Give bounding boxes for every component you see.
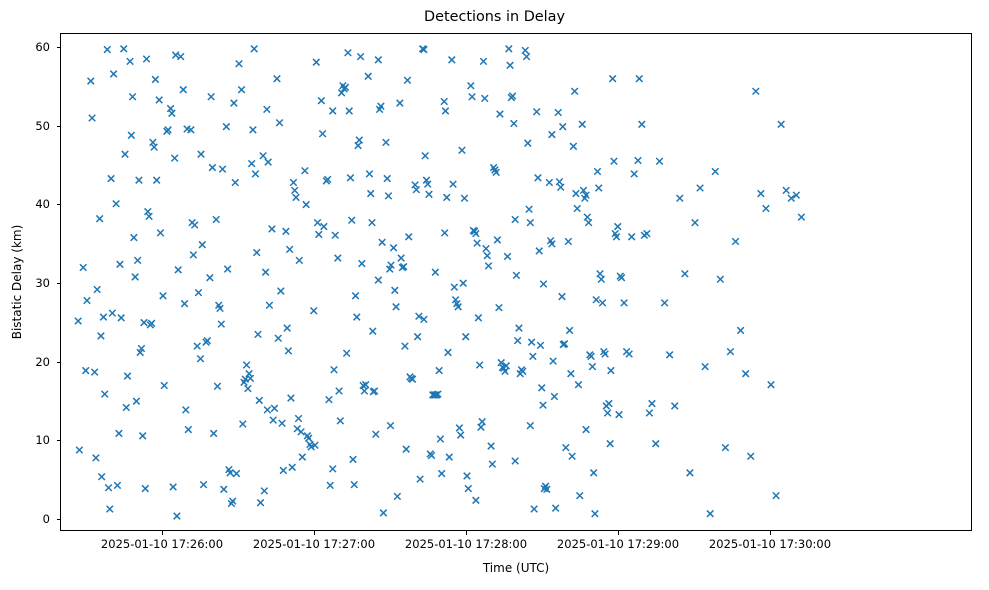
scatter-marker xyxy=(516,325,523,332)
scatter-marker xyxy=(404,77,411,84)
scatter-marker xyxy=(445,349,452,356)
scatter-marker xyxy=(414,333,421,340)
scatter-marker xyxy=(460,280,467,287)
chart-title: Detections in Delay xyxy=(0,9,989,25)
scatter-marker xyxy=(354,314,361,321)
scatter-marker xyxy=(441,98,448,105)
scatter-series xyxy=(61,34,971,530)
scatter-marker xyxy=(221,486,228,493)
scatter-marker xyxy=(513,272,520,279)
scatter-marker xyxy=(118,315,125,322)
scatter-marker xyxy=(139,433,146,440)
scatter-marker xyxy=(616,411,623,418)
scatter-marker xyxy=(666,352,673,359)
scatter-marker xyxy=(98,333,105,340)
scatter-marker xyxy=(302,167,309,174)
scatter-marker xyxy=(207,274,214,281)
scatter-marker xyxy=(250,127,257,133)
scatter-marker xyxy=(390,245,397,252)
scatter-marker xyxy=(177,53,184,60)
scatter-marker xyxy=(442,108,449,115)
scatter-marker xyxy=(218,321,225,328)
y-tick-label: 60 xyxy=(0,40,50,54)
scatter-marker xyxy=(566,327,573,334)
scatter-marker xyxy=(169,110,176,117)
scatter-marker xyxy=(337,418,344,425)
scatter-marker xyxy=(512,216,518,223)
scatter-marker xyxy=(335,255,342,261)
scatter-marker xyxy=(712,168,719,175)
scatter-marker xyxy=(450,181,457,188)
scatter-marker xyxy=(332,232,339,239)
scatter-marker xyxy=(768,381,775,388)
scatter-marker xyxy=(285,348,292,355)
scatter-marker xyxy=(559,293,566,300)
scatter-marker xyxy=(446,454,453,461)
scatter-marker xyxy=(590,470,597,477)
y-tick-mark xyxy=(57,47,61,48)
scatter-marker xyxy=(380,510,387,517)
scatter-marker xyxy=(682,271,689,278)
scatter-marker xyxy=(264,106,271,113)
scatter-marker xyxy=(213,216,220,223)
y-tick-mark xyxy=(57,440,61,441)
scatter-marker xyxy=(594,168,601,175)
scatter-marker xyxy=(530,353,537,360)
scatter-marker xyxy=(550,358,557,365)
scatter-marker xyxy=(351,481,358,488)
scatter-marker xyxy=(172,52,179,59)
scatter-marker xyxy=(105,484,112,491)
scatter-marker xyxy=(441,230,448,237)
scatter-marker xyxy=(246,370,253,377)
scatter-marker xyxy=(129,94,136,101)
scatter-marker xyxy=(405,234,412,241)
scatter-marker xyxy=(266,302,273,309)
scatter-marker xyxy=(393,304,400,311)
x-axis-label: Time (UTC) xyxy=(60,561,972,575)
scatter-marker xyxy=(82,367,89,374)
scatter-marker xyxy=(443,194,450,201)
scatter-marker xyxy=(551,393,558,400)
scatter-marker xyxy=(763,205,770,212)
scatter-marker xyxy=(496,304,503,311)
scatter-marker xyxy=(114,482,121,489)
scatter-marker xyxy=(133,398,140,405)
scatter-marker xyxy=(94,286,101,293)
scatter-marker xyxy=(123,404,130,411)
scatter-marker xyxy=(365,73,372,80)
y-tick-label: 10 xyxy=(0,433,50,447)
scatter-marker xyxy=(592,510,599,517)
scatter-marker xyxy=(639,121,646,128)
scatter-marker xyxy=(252,171,259,178)
scatter-marker xyxy=(265,159,272,166)
scatter-marker xyxy=(199,241,206,248)
scatter-marker xyxy=(722,444,729,451)
scatter-marker xyxy=(104,46,111,53)
scatter-marker xyxy=(243,362,250,369)
scatter-points-layer xyxy=(61,34,971,530)
scatter-marker xyxy=(153,177,160,184)
scatter-marker xyxy=(646,410,653,417)
scatter-marker xyxy=(783,187,790,194)
scatter-marker xyxy=(170,484,177,491)
scatter-marker xyxy=(574,205,581,212)
scatter-marker xyxy=(497,111,504,118)
x-tick-label: 2025-01-10 17:30:00 xyxy=(709,537,831,551)
scatter-marker xyxy=(367,190,374,197)
scatter-marker xyxy=(75,318,82,325)
scatter-marker xyxy=(540,281,547,288)
scatter-marker xyxy=(488,443,495,450)
scatter-marker xyxy=(556,178,563,185)
scatter-marker xyxy=(76,447,83,454)
scatter-marker xyxy=(402,343,409,350)
scatter-marker xyxy=(461,195,468,202)
scatter-marker xyxy=(631,171,638,178)
scatter-marker xyxy=(128,132,135,139)
scatter-marker xyxy=(299,454,306,461)
scatter-marker xyxy=(145,208,152,215)
scatter-marker xyxy=(88,78,95,85)
scatter-marker xyxy=(432,269,439,276)
marker-group xyxy=(75,46,805,520)
scatter-marker xyxy=(190,252,197,258)
scatter-marker xyxy=(93,455,100,462)
scatter-marker xyxy=(459,147,466,154)
scatter-marker xyxy=(262,269,269,276)
scatter-marker xyxy=(291,187,298,194)
scatter-marker xyxy=(348,217,355,224)
scatter-marker xyxy=(479,418,486,425)
scatter-marker xyxy=(528,339,535,346)
scatter-marker xyxy=(576,492,583,499)
scatter-marker xyxy=(256,397,263,404)
scatter-marker xyxy=(175,267,182,274)
x-tick-mark xyxy=(618,531,619,535)
scatter-marker xyxy=(296,257,303,264)
x-tick-mark xyxy=(466,531,467,535)
scatter-marker xyxy=(753,88,760,95)
scatter-marker xyxy=(295,415,302,422)
scatter-marker xyxy=(607,440,614,447)
y-tick-label: 30 xyxy=(0,276,50,290)
scatter-marker xyxy=(422,153,429,160)
scatter-marker xyxy=(392,287,399,294)
scatter-marker xyxy=(264,407,271,414)
scatter-marker xyxy=(565,238,572,245)
scatter-marker xyxy=(527,422,534,429)
scatter-marker xyxy=(303,201,310,208)
x-tick-label: 2025-01-10 17:28:00 xyxy=(405,537,527,551)
scatter-marker xyxy=(394,493,401,500)
scatter-marker xyxy=(732,238,739,245)
scatter-marker xyxy=(350,456,357,463)
scatter-marker xyxy=(511,120,518,127)
x-tick-label: 2025-01-10 17:26:00 xyxy=(101,537,223,551)
scatter-marker xyxy=(599,300,606,307)
scatter-marker xyxy=(598,276,605,283)
scatter-marker xyxy=(183,407,190,414)
scatter-marker xyxy=(127,58,134,65)
scatter-marker xyxy=(346,108,353,115)
scatter-marker xyxy=(171,155,178,162)
scatter-marker xyxy=(326,396,333,403)
scatter-marker xyxy=(316,231,323,238)
scatter-marker xyxy=(181,300,188,307)
scatter-marker xyxy=(717,276,724,283)
x-tick-mark xyxy=(770,531,771,535)
scatter-marker xyxy=(283,228,290,235)
scatter-marker xyxy=(525,140,532,147)
scatter-marker xyxy=(589,363,596,370)
scatter-marker xyxy=(798,214,805,221)
scatter-marker xyxy=(560,123,567,129)
scatter-marker xyxy=(143,56,150,63)
scatter-marker xyxy=(134,257,141,264)
scatter-marker xyxy=(604,410,611,417)
scatter-marker xyxy=(451,284,458,291)
scatter-marker xyxy=(778,121,785,128)
scatter-marker xyxy=(533,108,540,115)
scatter-marker xyxy=(413,186,420,193)
scatter-marker xyxy=(261,488,268,495)
y-tick-label: 20 xyxy=(0,355,50,369)
scatter-marker xyxy=(352,293,359,300)
y-tick-label: 0 xyxy=(0,512,50,526)
scatter-marker xyxy=(656,158,663,165)
scatter-marker xyxy=(412,182,419,189)
scatter-marker xyxy=(151,144,158,151)
scatter-marker xyxy=(113,201,120,208)
y-tick-label: 40 xyxy=(0,197,50,211)
scatter-marker xyxy=(473,497,480,504)
scatter-marker xyxy=(96,215,103,222)
scatter-marker xyxy=(568,370,574,377)
scatter-marker xyxy=(236,60,243,67)
scatter-marker xyxy=(107,506,114,513)
scatter-marker xyxy=(375,277,382,284)
scatter-marker xyxy=(456,425,463,432)
scatter-marker xyxy=(614,223,621,230)
scatter-marker xyxy=(100,314,107,321)
scatter-marker xyxy=(288,395,295,402)
plot-area xyxy=(60,33,972,531)
scatter-marker xyxy=(284,325,291,332)
scatter-marker xyxy=(593,296,600,303)
scatter-marker xyxy=(538,385,545,392)
scatter-marker xyxy=(146,213,153,220)
scatter-marker xyxy=(537,342,544,349)
scatter-marker xyxy=(305,435,312,442)
scatter-marker xyxy=(727,348,734,355)
scatter-marker xyxy=(229,498,236,505)
scatter-marker xyxy=(522,47,529,54)
scatter-marker xyxy=(210,430,217,437)
scatter-marker xyxy=(671,403,678,410)
scatter-marker xyxy=(635,157,642,164)
scatter-marker xyxy=(438,470,445,477)
scatter-marker xyxy=(474,240,481,247)
y-tick-mark xyxy=(57,283,61,284)
scatter-marker xyxy=(109,310,116,317)
scatter-marker xyxy=(150,139,157,146)
scatter-marker xyxy=(80,264,87,271)
scatter-marker xyxy=(649,400,656,407)
scatter-marker xyxy=(661,300,668,307)
scatter-marker xyxy=(101,391,108,398)
scatter-marker xyxy=(219,166,226,173)
scatter-marker xyxy=(160,293,167,300)
scatter-marker xyxy=(527,219,534,226)
scatter-marker xyxy=(449,57,456,64)
scatter-marker xyxy=(152,76,159,83)
matplotlib-figure: Detections in Delay 2025-01-10 17:26:002… xyxy=(0,0,989,590)
scatter-marker xyxy=(156,97,163,104)
scatter-marker xyxy=(468,83,475,90)
scatter-marker xyxy=(327,482,334,489)
scatter-marker xyxy=(398,255,405,261)
scatter-marker xyxy=(275,335,282,342)
scatter-marker xyxy=(233,470,240,477)
scatter-marker xyxy=(255,331,262,338)
scatter-marker xyxy=(457,432,464,439)
scatter-marker xyxy=(223,123,230,129)
scatter-marker xyxy=(737,327,744,334)
scatter-marker xyxy=(289,464,296,471)
scatter-marker xyxy=(462,333,469,340)
scatter-marker xyxy=(465,485,472,492)
scatter-marker xyxy=(343,350,350,357)
scatter-marker xyxy=(359,260,366,267)
scatter-marker xyxy=(142,485,149,492)
scatter-marker xyxy=(298,429,305,436)
scatter-marker xyxy=(609,75,616,82)
scatter-marker xyxy=(117,261,124,268)
scatter-marker xyxy=(329,108,336,115)
scatter-marker xyxy=(373,431,380,438)
scatter-marker xyxy=(310,307,317,314)
scatter-marker xyxy=(557,184,564,191)
scatter-marker xyxy=(369,219,376,226)
scatter-marker xyxy=(240,421,247,428)
scatter-marker xyxy=(136,177,143,184)
scatter-marker xyxy=(120,46,126,53)
scatter-marker xyxy=(480,58,487,65)
scatter-marker xyxy=(485,263,492,270)
scatter-marker xyxy=(585,219,592,226)
scatter-marker xyxy=(357,53,364,60)
y-tick-label: 50 xyxy=(0,119,50,133)
scatter-marker xyxy=(397,100,404,107)
scatter-marker xyxy=(116,430,123,437)
scatter-marker xyxy=(584,214,591,221)
y-tick-mark xyxy=(57,519,61,520)
scatter-marker xyxy=(570,143,577,150)
scatter-marker xyxy=(483,245,490,252)
scatter-marker xyxy=(248,160,255,167)
scatter-marker xyxy=(345,49,352,56)
scatter-marker xyxy=(473,230,480,237)
scatter-marker xyxy=(549,131,556,138)
scatter-marker xyxy=(185,426,191,433)
scatter-marker xyxy=(742,370,749,377)
scatter-marker xyxy=(110,71,117,78)
scatter-marker xyxy=(387,422,394,429)
scatter-marker xyxy=(89,115,96,122)
scatter-marker xyxy=(98,473,105,480)
x-tick-mark xyxy=(162,531,163,535)
scatter-marker xyxy=(271,405,278,412)
scatter-marker xyxy=(257,499,264,506)
scatter-marker xyxy=(314,219,321,226)
scatter-marker xyxy=(526,206,533,213)
scatter-marker xyxy=(124,373,130,380)
scatter-marker xyxy=(209,164,216,171)
scatter-marker xyxy=(403,446,410,453)
y-tick-mark xyxy=(57,126,61,127)
scatter-marker xyxy=(478,424,485,431)
scatter-marker xyxy=(464,473,471,480)
scatter-marker xyxy=(579,121,586,128)
scatter-marker xyxy=(276,119,283,126)
scatter-marker xyxy=(356,137,363,144)
scatter-marker xyxy=(197,355,204,362)
scatter-marker xyxy=(476,362,483,369)
scatter-marker xyxy=(507,62,513,69)
scatter-marker xyxy=(280,467,287,474)
scatter-marker xyxy=(274,75,281,82)
scatter-marker xyxy=(347,175,354,182)
scatter-marker xyxy=(546,179,553,186)
scatter-marker xyxy=(697,185,704,192)
scatter-marker xyxy=(677,195,684,202)
scatter-marker xyxy=(122,151,129,158)
scatter-marker xyxy=(597,271,604,278)
scatter-marker xyxy=(385,193,392,200)
scatter-marker xyxy=(245,385,252,392)
scatter-marker xyxy=(370,328,377,335)
scatter-marker xyxy=(636,75,643,82)
scatter-marker xyxy=(191,222,198,229)
scatter-marker xyxy=(469,94,476,101)
scatter-marker xyxy=(366,171,373,178)
scatter-marker xyxy=(583,426,590,433)
scatter-marker xyxy=(293,194,300,201)
scatter-marker xyxy=(108,175,115,182)
scatter-marker xyxy=(531,506,538,513)
scatter-marker xyxy=(319,130,326,137)
scatter-marker xyxy=(180,86,187,93)
scatter-marker xyxy=(91,369,98,376)
scatter-marker xyxy=(251,46,258,53)
scatter-marker xyxy=(224,266,231,273)
scatter-marker xyxy=(269,226,276,233)
scatter-marker xyxy=(484,252,491,259)
scatter-marker xyxy=(318,97,325,104)
scatter-marker xyxy=(437,436,444,443)
scatter-marker xyxy=(167,105,174,112)
scatter-marker xyxy=(569,453,576,460)
scatter-marker xyxy=(313,59,320,66)
scatter-marker xyxy=(563,444,570,451)
scatter-marker xyxy=(611,158,618,165)
scatter-marker xyxy=(595,185,602,192)
scatter-marker xyxy=(232,179,239,186)
y-tick-mark xyxy=(57,204,61,205)
scatter-marker xyxy=(644,230,651,237)
